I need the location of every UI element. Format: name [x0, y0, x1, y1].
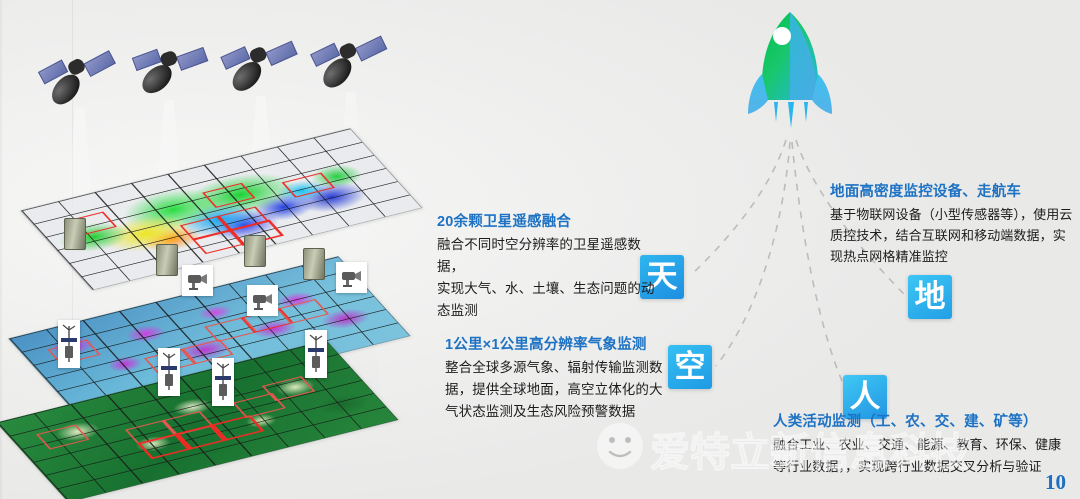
monitoring-cabinet [303, 248, 325, 280]
camera-sensor-photo [336, 262, 367, 293]
ground-line-2: 质控技术，结合互联网和移动端数据，实 [830, 228, 1066, 243]
weather-station-photo [305, 330, 327, 378]
air-line-2: 据，提供全球地面，高空立体化的大 [445, 382, 663, 397]
weather-station-icon [160, 350, 178, 394]
satellite-line-1: 融合不同时空分辨率的卫星遥感数据， [437, 237, 641, 274]
monitoring-cabinet [156, 244, 178, 276]
monitoring-cabinet [244, 235, 266, 267]
human-line-1: 融合工业、农业、交通、能源、教育、环保、健康 [773, 437, 1061, 452]
satellite-line-3: 态监测 [437, 303, 478, 318]
ground-body: 基于物联网设备（小型传感器等），使用云 质控技术，结合互联网和移动端数据，实 现… [830, 204, 1074, 267]
human-line-2: 等行业数据，，实现跨行业数据交叉分析与验证 [773, 459, 1042, 474]
layered-monitoring-illustration [0, 0, 460, 499]
page-number: 10 [1045, 470, 1066, 495]
weather-station-photo [58, 320, 80, 368]
text-block-air: 1公里×1公里高分辨率气象监测 整合全球多源气象、辐射传输监测数 据，提供全球地… [445, 333, 675, 423]
monitoring-cabinet [64, 218, 86, 250]
camera-icon [186, 272, 210, 290]
human-body: 融合工业、农业、交通、能源、教育、环保、健康 等行业数据，，实现跨行业数据交叉分… [773, 434, 1073, 478]
weather-station-photo [158, 348, 180, 396]
satellite-title: 20余颗卫星遥感融合 [437, 210, 662, 231]
human-title: 人类活动监测（工、农、交、建、矿等） [773, 410, 1073, 431]
text-block-ground: 地面高密度监控设备、走航车 基于物联网设备（小型传感器等），使用云 质控技术，结… [830, 180, 1074, 267]
weather-station-photo [212, 358, 234, 406]
badge-di[interactable]: 地 [908, 275, 952, 319]
camera-icon [340, 269, 364, 287]
camera-sensor-photo [247, 285, 278, 316]
text-block-human: 人类活动监测（工、农、交、建、矿等） 融合工业、农业、交通、能源、教育、环保、健… [773, 410, 1073, 478]
ground-line-3: 现热点网格精准监控 [830, 249, 948, 264]
weather-station-icon [214, 360, 232, 404]
ground-title: 地面高密度监控设备、走航车 [830, 180, 1074, 201]
weather-station-icon [307, 332, 325, 376]
air-line-1: 整合全球多源气象、辐射传输监测数 [445, 360, 663, 375]
connector-to-tian [690, 140, 786, 276]
satellite-body: 融合不同时空分辨率的卫星遥感数据， 实现大气、水、土壤、生态问题的动 态监测 [437, 234, 662, 322]
camera-icon [251, 292, 275, 310]
weather-station-icon [60, 322, 78, 366]
satellite-icon [212, 18, 308, 115]
text-block-satellite: 20余颗卫星遥感融合 融合不同时空分辨率的卫星遥感数据， 实现大气、水、土壤、生… [437, 210, 662, 322]
satellite-icon [302, 14, 398, 111]
camera-sensor-photo [182, 265, 213, 296]
ground-line-1: 基于物联网设备（小型传感器等），使用云 [830, 207, 1072, 222]
air-body: 整合全球多源气象、辐射传输监测数 据，提供全球地面，高空立体化的大 气状态监测及… [445, 357, 675, 423]
rocket-icon [744, 8, 838, 130]
air-title: 1公里×1公里高分辨率气象监测 [445, 333, 675, 354]
satellite-icon [30, 28, 126, 125]
connector-to-kong [716, 142, 790, 366]
presentation-slide: 天 空 地 人 20余颗卫星遥感融合 融合不同时空分辨率的卫星遥感数据， 实现大… [0, 0, 1080, 499]
air-line-3: 气状态监测及生态风险预警数据 [445, 404, 635, 419]
satellite-icon [122, 22, 218, 119]
satellite-line-2: 实现大气、水、土壤、生态问题的动 [437, 281, 655, 296]
